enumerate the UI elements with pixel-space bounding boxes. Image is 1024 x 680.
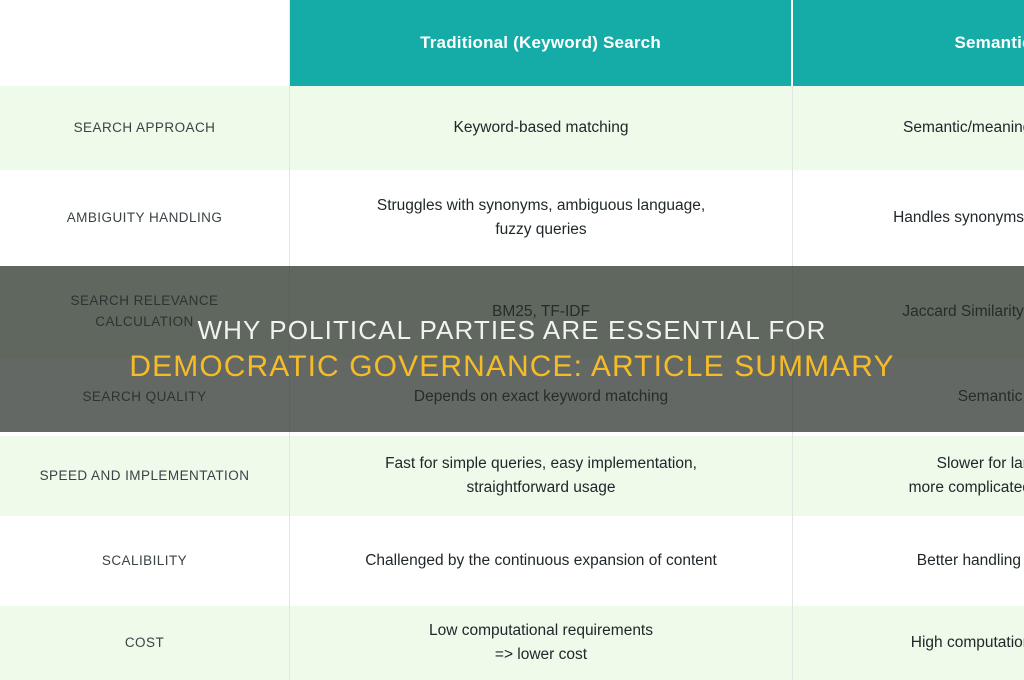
cell-semantic-scalibility: Better handling of large content: [793, 516, 1024, 606]
cell-text: Handles synonyms and ambiguity well: [893, 206, 1024, 230]
column-header-semantic: Semantic Search: [793, 0, 1024, 86]
overlay-title-line-1: WHY POLITICAL PARTIES ARE ESSENTIAL FOR: [197, 315, 826, 346]
overlay-title-line-2: DEMOCRATIC GOVERNANCE: ARTICLE SUMMARY: [129, 350, 894, 384]
row-label-ambiguity-handling: AMBIGUITY HANDLING: [0, 170, 290, 266]
cell-traditional-scalibility: Challenged by the continuous expansion o…: [290, 516, 793, 606]
row-label-text: SPEED AND IMPLEMENTATION: [40, 466, 250, 487]
cell-traditional-ambiguity-handling: Struggles with synonyms, ambiguous langu…: [290, 170, 793, 266]
screenshot-root: Traditional (Keyword) Search Semantic Se…: [0, 0, 1024, 680]
row-label-text: SCALIBILITY: [102, 551, 187, 572]
table-corner-cell: [0, 0, 290, 86]
cell-text: Low computational requirements => lower …: [429, 619, 653, 667]
cell-traditional-cost: Low computational requirements => lower …: [290, 606, 793, 680]
row-label-search-approach: SEARCH APPROACH: [0, 86, 290, 170]
row-label-speed-and-implementation: SPEED AND IMPLEMENTATION: [0, 436, 290, 516]
cell-text: Slower for large datasets, more complica…: [909, 452, 1024, 500]
cell-traditional-search-approach: Keyword-based matching: [290, 86, 793, 170]
row-label-text: COST: [125, 633, 164, 654]
row-label-text: SEARCH APPROACH: [74, 118, 216, 139]
cell-semantic-search-approach: Semantic/meaning-based matching: [793, 86, 1024, 170]
row-label-text: AMBIGUITY HANDLING: [67, 208, 223, 229]
column-header-semantic-label: Semantic Search: [954, 30, 1024, 56]
cell-semantic-cost: High computational requirements: [793, 606, 1024, 680]
cell-semantic-speed-and-implementation: Slower for large datasets, more complica…: [793, 436, 1024, 516]
row-label-scalibility: SCALIBILITY: [0, 516, 290, 606]
cell-text: Better handling of large content: [917, 549, 1024, 573]
cell-semantic-ambiguity-handling: Handles synonyms and ambiguity well: [793, 170, 1024, 266]
cell-text: Challenged by the continuous expansion o…: [365, 549, 717, 573]
column-header-traditional: Traditional (Keyword) Search: [290, 0, 793, 86]
cell-text: High computational requirements: [911, 631, 1024, 655]
cell-traditional-speed-and-implementation: Fast for simple queries, easy implementa…: [290, 436, 793, 516]
row-label-cost: COST: [0, 606, 290, 680]
cell-text: Semantic/meaning-based matching: [903, 116, 1024, 140]
cell-text: Keyword-based matching: [454, 116, 629, 140]
cell-text: Fast for simple queries, easy implementa…: [385, 452, 697, 500]
column-header-traditional-label: Traditional (Keyword) Search: [420, 30, 661, 56]
title-overlay-banner: WHY POLITICAL PARTIES ARE ESSENTIAL FOR …: [0, 266, 1024, 432]
cell-text: Struggles with synonyms, ambiguous langu…: [377, 194, 705, 242]
